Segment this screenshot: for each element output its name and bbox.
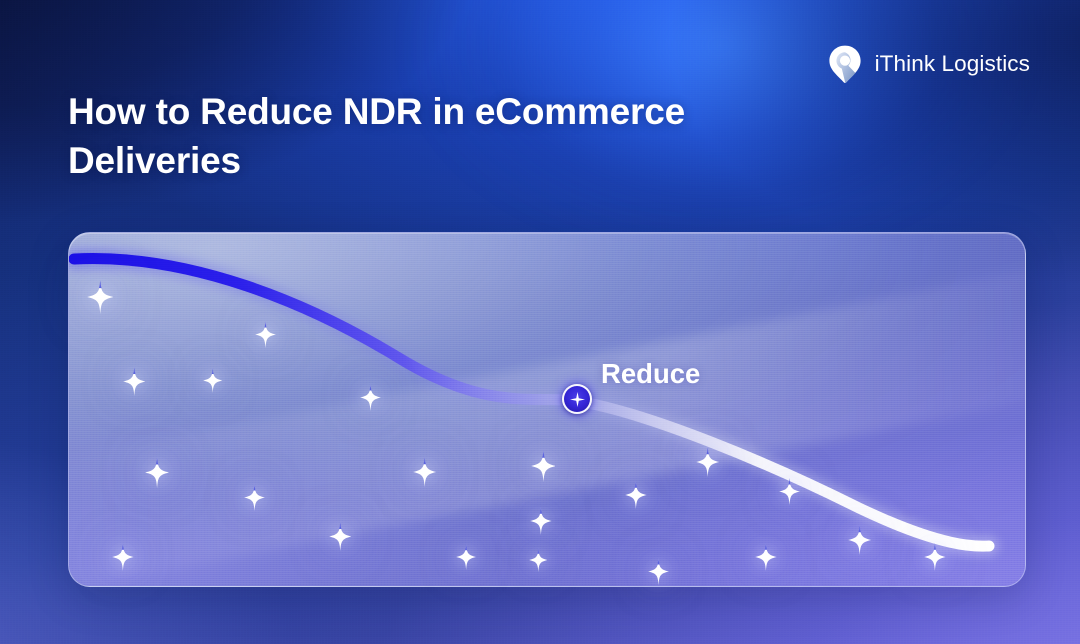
- chart-card: [68, 232, 1026, 587]
- hero-banner: How to Reduce NDR in eCommerce Deliverie…: [0, 0, 1080, 644]
- page-title: How to Reduce NDR in eCommerce Deliverie…: [68, 88, 788, 186]
- curve-node-label: Reduce: [601, 358, 700, 390]
- brand-logo[interactable]: iThink Logistics: [828, 45, 1030, 83]
- declining-curve: [69, 233, 1025, 586]
- sparkle-icon: [570, 392, 585, 407]
- curve-node-marker[interactable]: [562, 384, 592, 414]
- brand-name: iThink Logistics: [875, 51, 1030, 77]
- location-pin-icon: [828, 45, 862, 83]
